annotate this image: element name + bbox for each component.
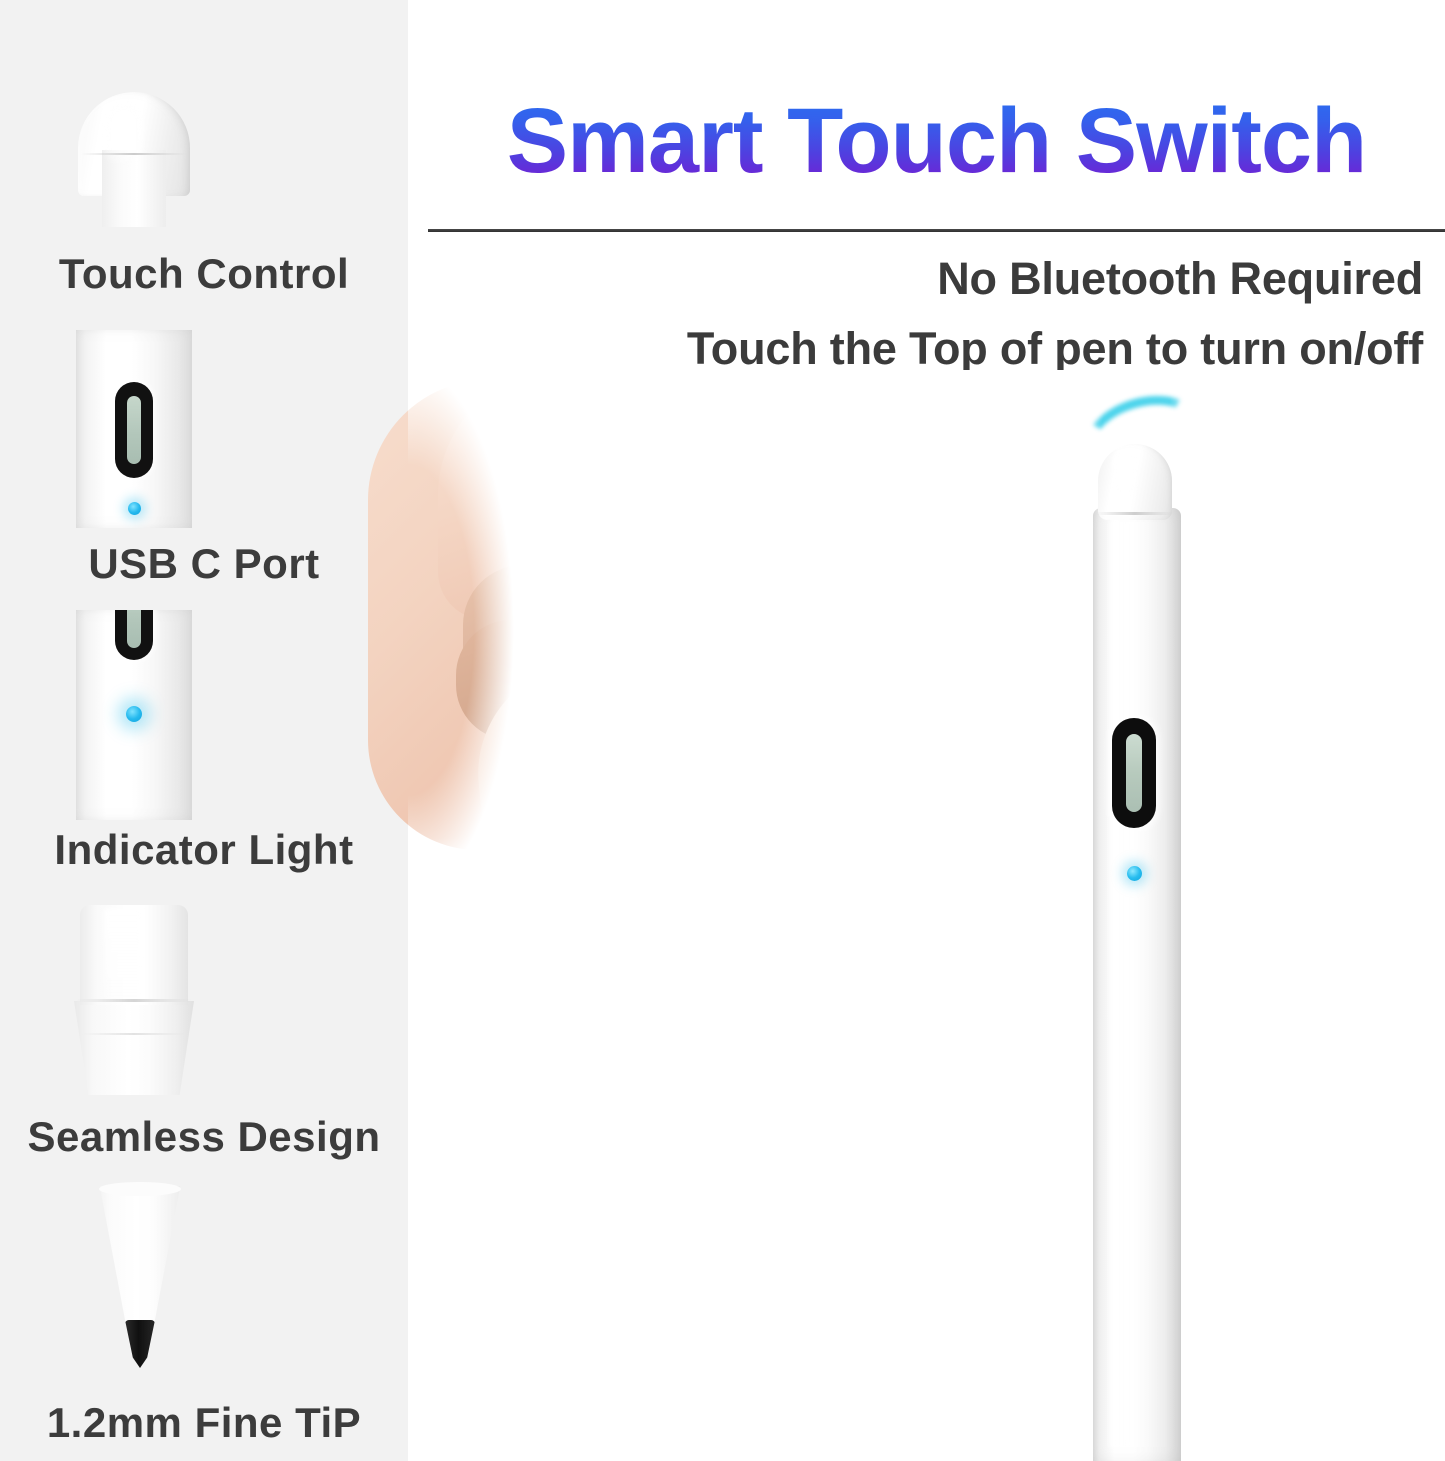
pen-body-shape [1093, 508, 1181, 1461]
feature-label-indicator-light: Indicator Light [0, 826, 408, 874]
usb-c-inner-slot [1126, 734, 1142, 812]
pen-body-gloss-highlight [1110, 518, 1130, 1448]
header-divider [428, 229, 1445, 232]
tip-cone-top-edge [99, 1182, 181, 1196]
feature-label-usb-c-port: USB C Port [0, 540, 408, 588]
hand-illustration [408, 370, 1148, 890]
tip-nib-shape [125, 1320, 155, 1368]
indicator-led-dot [1127, 866, 1142, 881]
usb-c-inner-slot [127, 396, 141, 464]
seam-line-primary [76, 999, 192, 1002]
product-feature-graphic: Touch Control USB C Port Indicator Light [0, 0, 1445, 1461]
feature-sidebar: Touch Control USB C Port Indicator Light [0, 0, 408, 1461]
pen-cap-seam-line [1096, 512, 1174, 515]
indicator-led-dot [126, 706, 142, 722]
subtitle-no-bluetooth: No Bluetooth Required [937, 253, 1423, 305]
indicator-led-dot [128, 502, 141, 515]
segment-clip [76, 610, 192, 820]
usb-c-inner-slot [127, 610, 141, 648]
pen-cap-gloss-highlight [1112, 450, 1138, 496]
feature-label-touch-control: Touch Control [0, 250, 408, 298]
pen-cap-dome-icon [78, 92, 190, 227]
page-title: Smart Touch Switch [428, 95, 1445, 187]
indicator-led-icon [76, 610, 192, 820]
main-panel: Smart Touch Switch No Bluetooth Required… [408, 0, 1445, 1461]
fine-tip-icon [92, 1186, 188, 1371]
usb-c-port-icon [76, 330, 192, 528]
feature-label-seamless-design: Seamless Design [0, 1113, 408, 1161]
seamless-joint-icon [72, 905, 196, 1095]
tip-cone-shape [92, 1186, 188, 1328]
feature-label-fine-tip: 1.2mm Fine TiP [0, 1399, 408, 1447]
cap-seam-line [81, 153, 187, 155]
usb-c-connector-shape [115, 610, 153, 660]
usb-c-connector-shape [115, 382, 153, 478]
seam-line-secondary [82, 1033, 186, 1035]
barrel-gloss-highlight [104, 909, 142, 1001]
usb-c-port-icon [1112, 718, 1156, 828]
stylus-pen [1072, 398, 1192, 1461]
lower-barrel-shape [74, 1001, 194, 1095]
subtitle-touch-instruction: Touch the Top of pen to turn on/off [687, 323, 1423, 375]
